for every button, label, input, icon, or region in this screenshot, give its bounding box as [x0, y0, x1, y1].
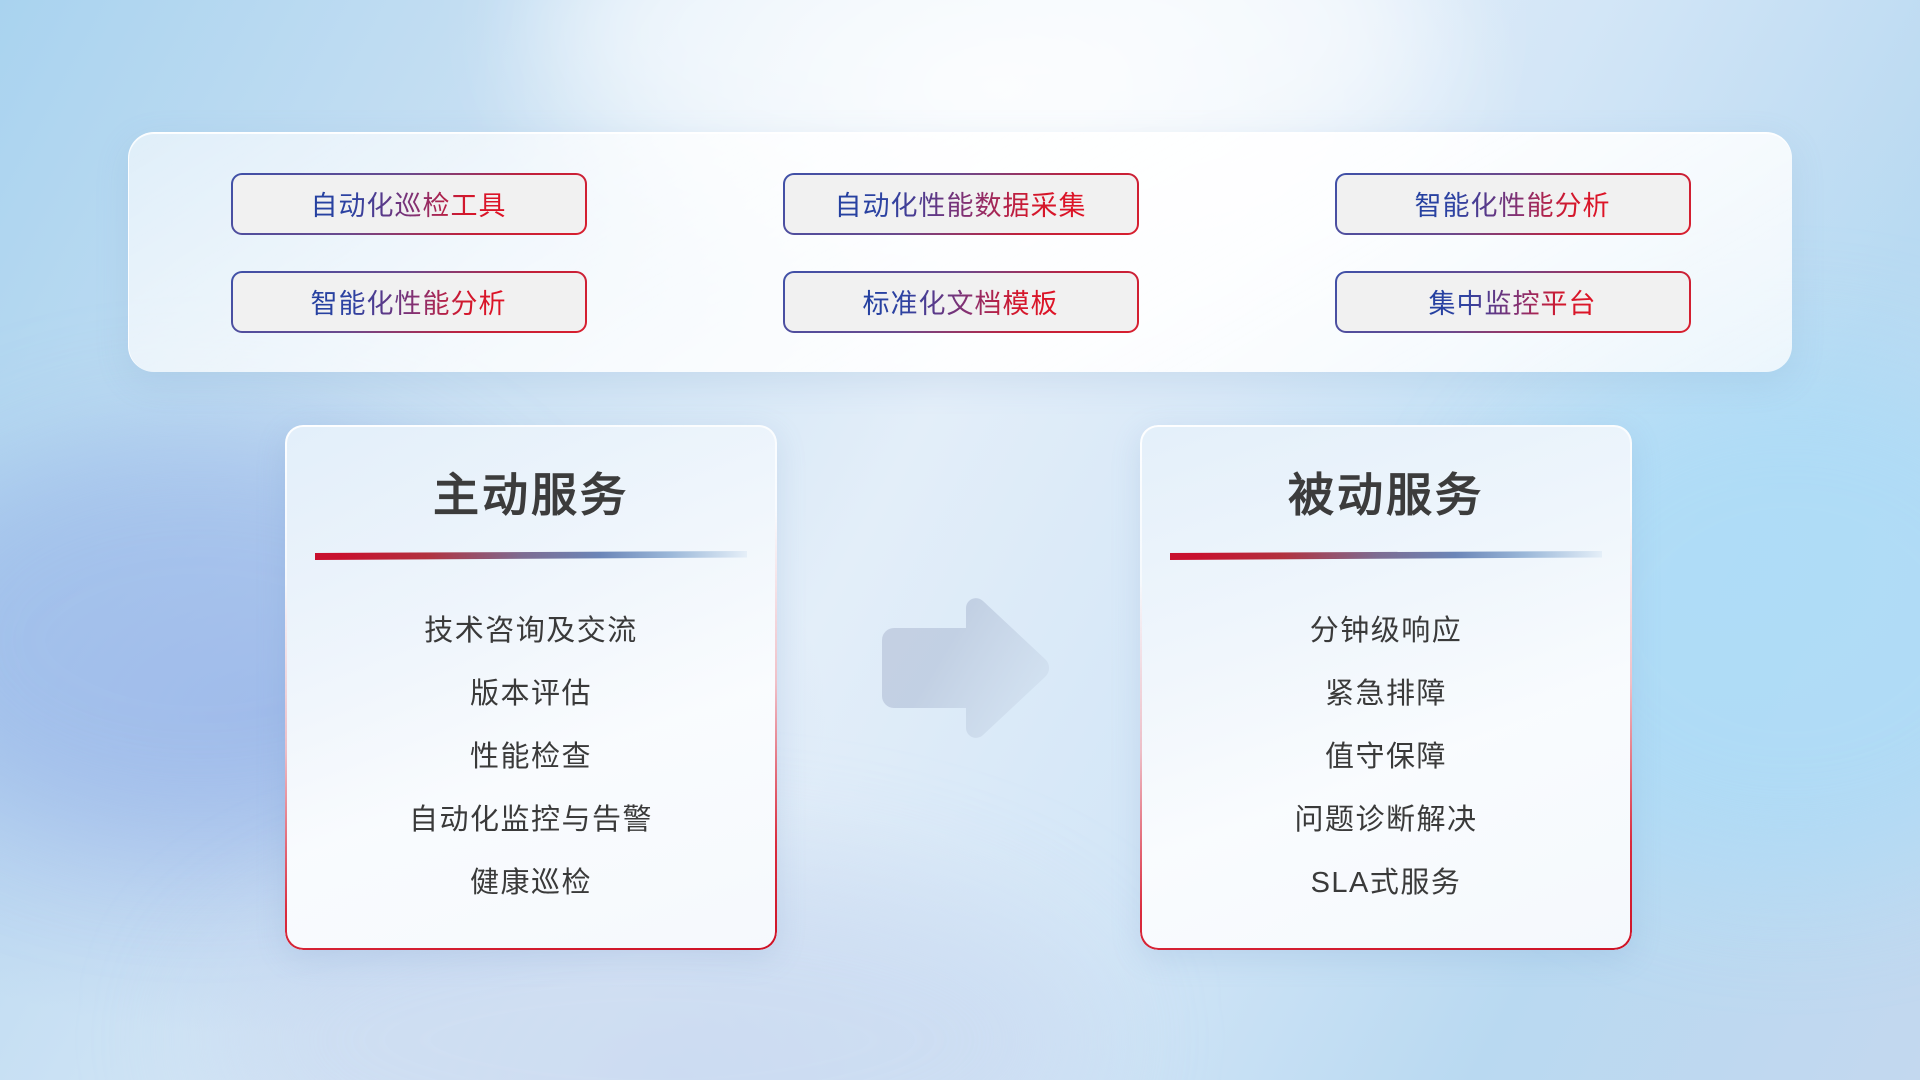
capability-pill-label: 自动化性能数据采集 — [835, 184, 1087, 223]
title-divider — [1170, 551, 1602, 560]
capability-pill-inner: 智能化性能分析 — [233, 273, 585, 331]
capability-pill-label: 标准化文档模板 — [863, 282, 1059, 321]
capability-pill[interactable]: 自动化巡检工具 — [231, 173, 587, 235]
right-arrow-icon — [868, 596, 1052, 744]
list-item: 分钟级响应 — [1140, 600, 1632, 663]
active-service-list: 技术咨询及交流 版本评估 性能检查 自动化监控与告警 健康巡检 — [285, 560, 777, 915]
capability-pill-inner: 自动化性能数据采集 — [785, 175, 1137, 233]
passive-service-card: 被动服务 分钟级响应 紧急排障 值守保障 问题诊断解决 SLA式服务 — [1140, 425, 1632, 950]
capability-pill-label: 智能化性能分析 — [311, 282, 507, 321]
list-item: 问题诊断解决 — [1140, 789, 1632, 852]
list-item: 值守保障 — [1140, 726, 1632, 789]
capability-pill-inner: 标准化文档模板 — [785, 273, 1137, 331]
list-item: 自动化监控与告警 — [285, 789, 777, 852]
capability-pill-label: 智能化性能分析 — [1415, 184, 1611, 223]
capability-pill-inner: 自动化巡检工具 — [233, 175, 585, 233]
active-service-card: 主动服务 技术咨询及交流 版本评估 性能检查 自动化监控与告警 健康巡检 — [285, 425, 777, 950]
capability-pill-inner: 智能化性能分析 — [1337, 175, 1689, 233]
list-item: SLA式服务 — [1140, 852, 1632, 915]
capability-pill[interactable]: 智能化性能分析 — [231, 271, 587, 333]
active-service-title: 主动服务 — [285, 425, 777, 525]
capability-pill-grid: 自动化巡检工具 自动化性能数据采集 智能化性能分析 智能化性能分析 — [231, 173, 1691, 333]
list-item: 性能检查 — [285, 726, 777, 789]
capability-pill-label: 集中监控平台 — [1429, 282, 1597, 321]
list-item: 紧急排障 — [1140, 663, 1632, 726]
infographic-root: 自动化巡检工具 自动化性能数据采集 智能化性能分析 智能化性能分析 — [0, 0, 1920, 1080]
capability-panel: 自动化巡检工具 自动化性能数据采集 智能化性能分析 智能化性能分析 — [128, 132, 1792, 372]
passive-service-list: 分钟级响应 紧急排障 值守保障 问题诊断解决 SLA式服务 — [1140, 560, 1632, 915]
capability-pill[interactable]: 集中监控平台 — [1335, 271, 1691, 333]
list-item: 技术咨询及交流 — [285, 600, 777, 663]
capability-pill[interactable]: 自动化性能数据采集 — [783, 173, 1139, 235]
capability-pill[interactable]: 标准化文档模板 — [783, 271, 1139, 333]
list-item: 健康巡检 — [285, 852, 777, 915]
list-item: 版本评估 — [285, 663, 777, 726]
capability-pill-label: 自动化巡检工具 — [311, 184, 507, 223]
passive-service-title: 被动服务 — [1140, 425, 1632, 525]
capability-pill-inner: 集中监控平台 — [1337, 273, 1689, 331]
title-divider — [315, 551, 747, 560]
capability-pill[interactable]: 智能化性能分析 — [1335, 173, 1691, 235]
